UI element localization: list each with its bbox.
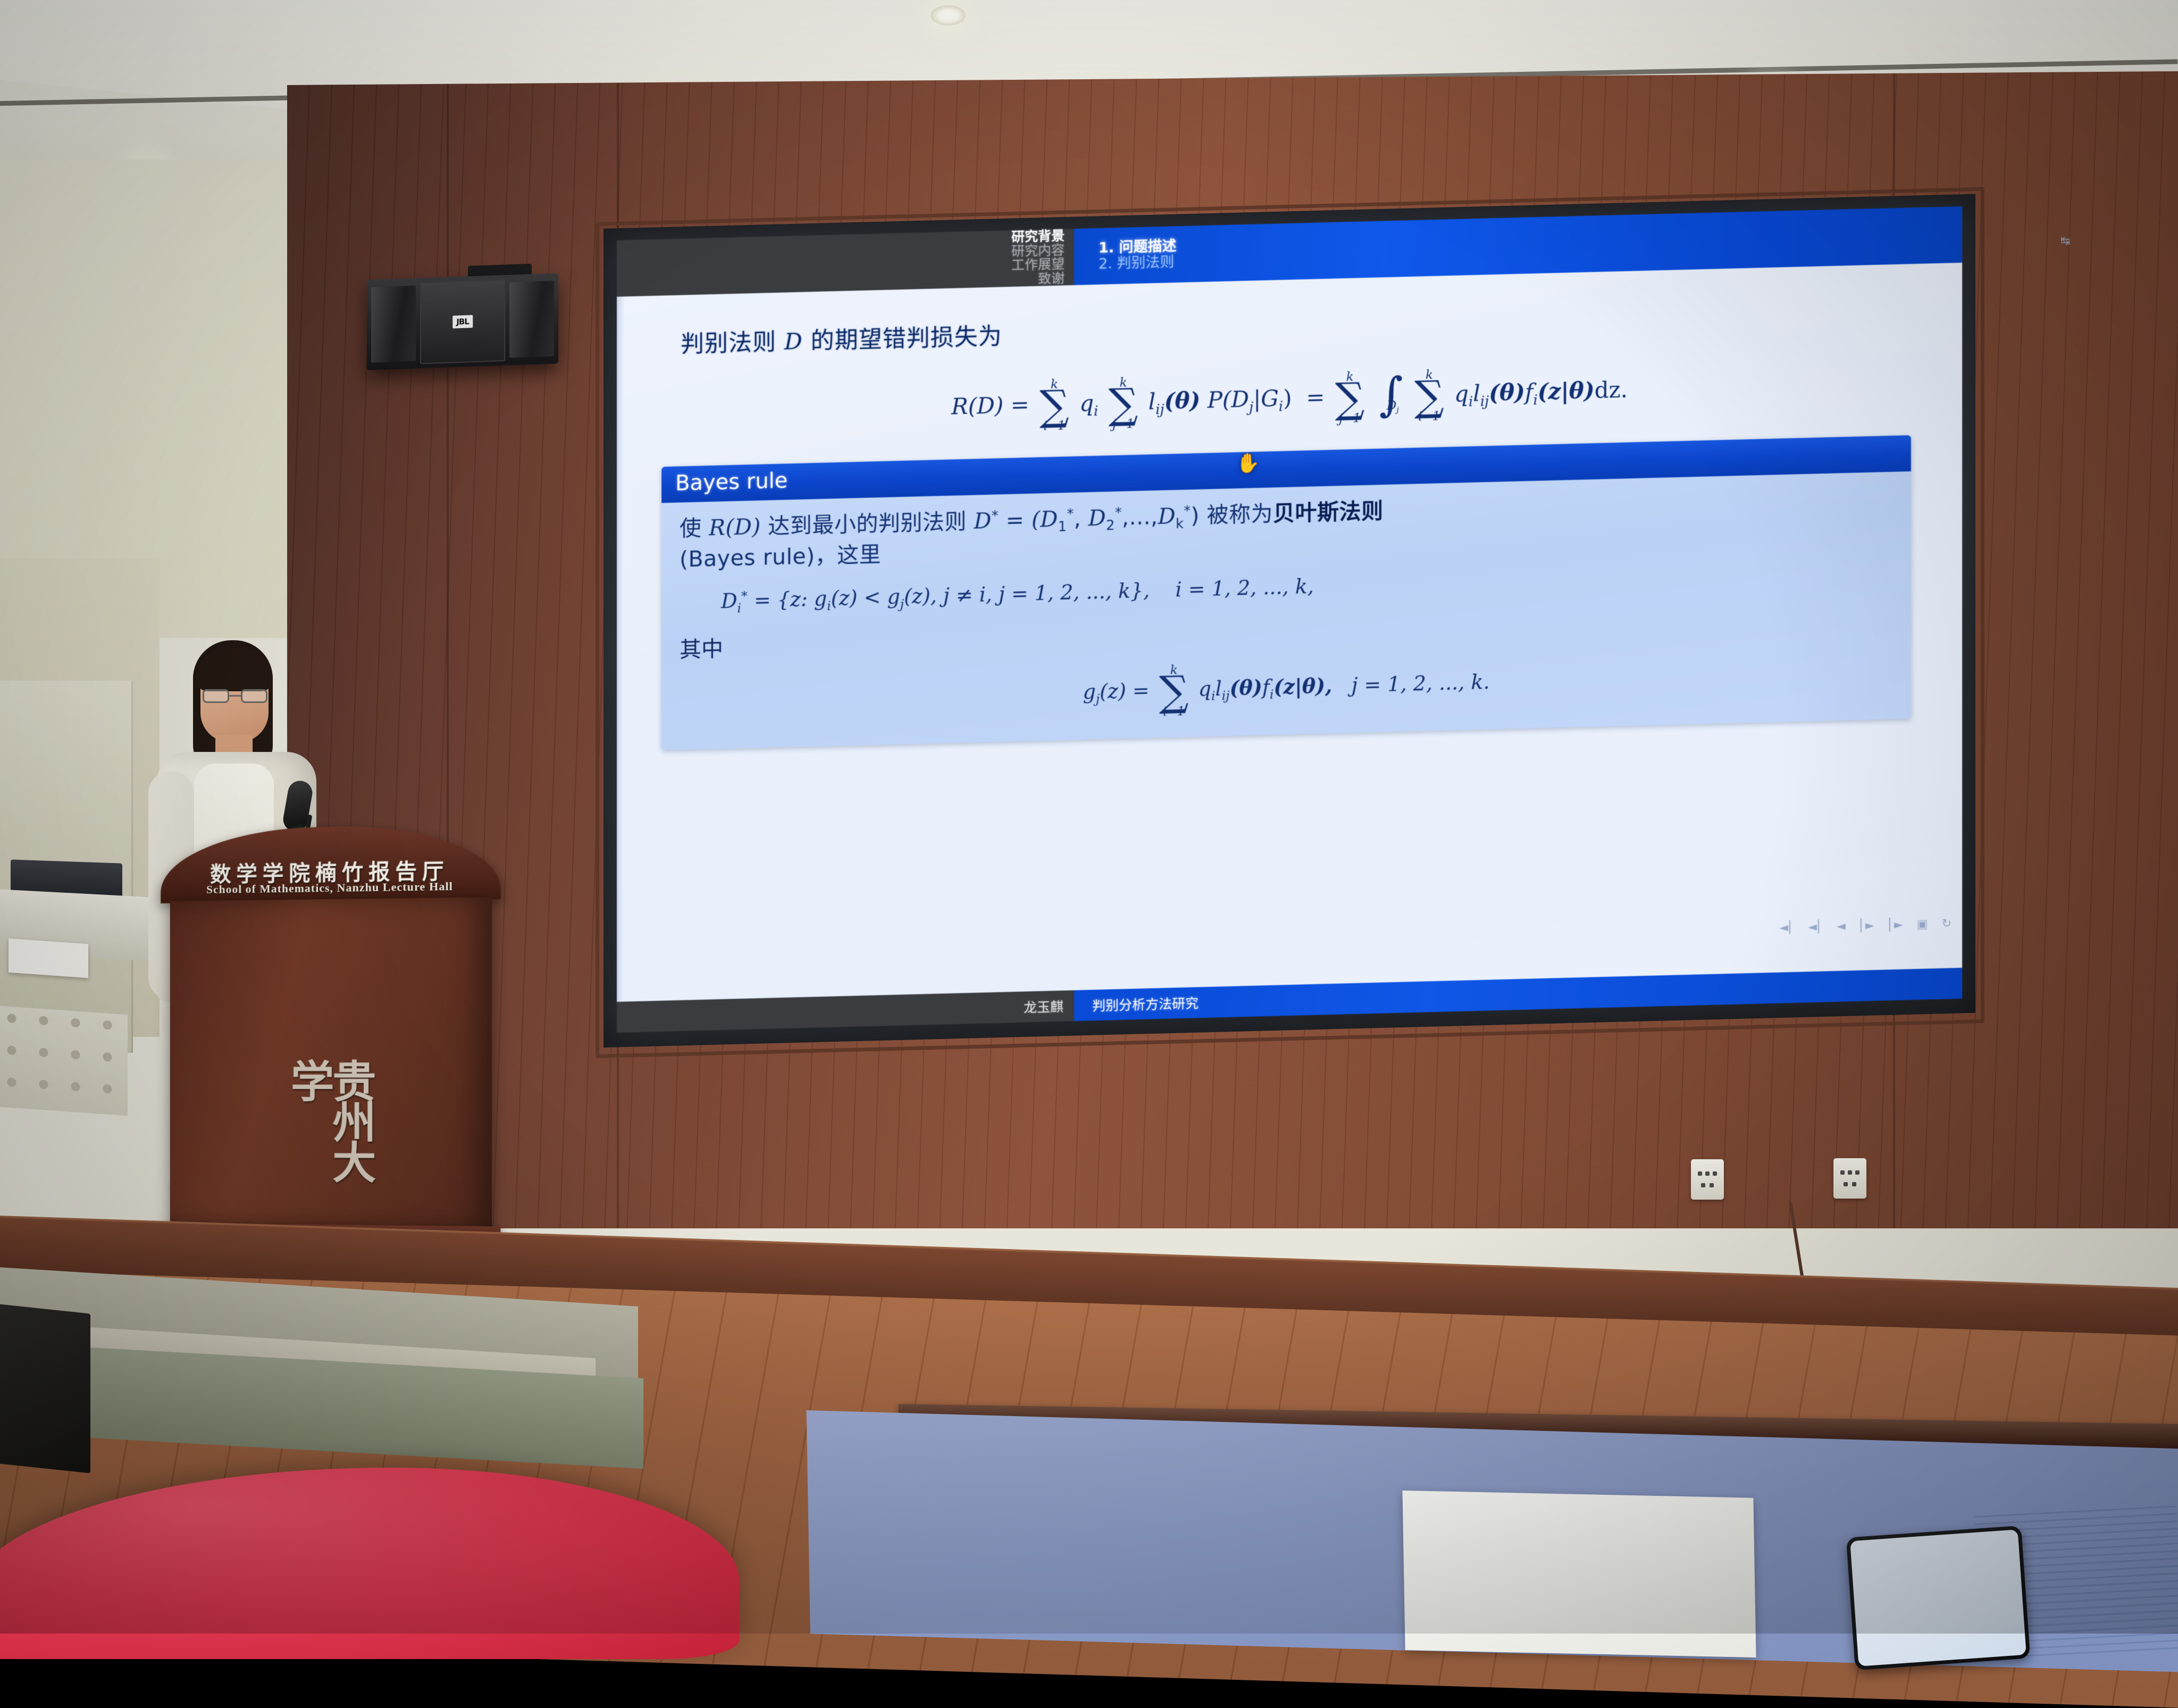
di-tail: (z), j ≠ i, j = 1, 2, ..., k}, [904, 579, 1150, 608]
sum3-lower: j=1 [1339, 413, 1361, 425]
eq-rhs-f: f [1525, 379, 1534, 405]
glasses-lens-left [203, 689, 229, 703]
eq-rhs-theta: (θ) [1489, 379, 1525, 406]
eq-rhs-q: q [1454, 380, 1469, 407]
stmt-bold-term: 贝叶斯法则 [1273, 498, 1384, 526]
summation-1: k ∑ i=1 [1040, 379, 1069, 432]
last-page-icon[interactable]: ⎜► [1888, 918, 1903, 932]
di-sub: i [737, 600, 741, 615]
sigma-icon: ∑ [1109, 389, 1138, 420]
hand-cursor-icon: ✋ [1236, 454, 1260, 473]
wall-perforated-panel [0, 1006, 128, 1116]
pdf-viewer-toolbar[interactable]: ◄⎜ ◄⎜ ◄ ⎜► ⎜► ▣ ↻ [1377, 911, 1951, 949]
eq-prob: P(D [1208, 386, 1249, 413]
gj-definition: gj(z) = k ∑ i=1 qilij(θ)fi(z|θ), j = 1, … [680, 647, 1893, 731]
eq-l: l [1149, 388, 1155, 414]
eq-l-sub: ij [1155, 401, 1164, 417]
slide-left-edge [617, 297, 624, 1002]
di-d: D [721, 589, 737, 613]
jbl-speaker: JBL [367, 273, 558, 371]
integral: ∫ Dj [1379, 380, 1403, 414]
eq-lhs: R(D) [951, 392, 1003, 420]
integral-domain: Dj [1387, 400, 1399, 414]
gj-jrange: j = 1, 2, ..., k. [1352, 670, 1490, 697]
stmt-tk-star: * [1184, 503, 1191, 518]
floor-equipment-box [0, 1302, 90, 1473]
di-irange: i = 1, 2, ..., k, [1175, 575, 1313, 602]
slide-canvas: 研究背景 研究内容 工作展望 致谢 1. 问题描述 2. 判别法则 判别法则 D… [617, 206, 1962, 1033]
stmt-b: 达到最小的判别法则 [768, 508, 967, 539]
podium-top-panel: 数学学院楠竹报告厅 School of Mathematics, Nanzhu … [161, 824, 500, 903]
lecture-hall-scene: JBL 研究背景 研究内容 工作展望 致谢 1. 问题描述 2. 判别法则 [0, 0, 2178, 1634]
glasses-icon [203, 689, 267, 703]
di-star: * [741, 589, 748, 604]
glasses-lens-right [241, 689, 267, 703]
foreground-phone [1846, 1526, 2031, 1670]
stmt-close: ) [1191, 503, 1200, 528]
slide-content-area: 判别法则 D 的期望错判损失为 R(D) = k ∑ i=1 qi k [617, 263, 1962, 1002]
eq-prob-sub1: j [1249, 399, 1253, 415]
podium-emblem: 贵州大学 [284, 1059, 374, 1182]
next-page-icon[interactable]: ⎜► [1859, 919, 1874, 933]
stmt-t1-star: * [1067, 505, 1074, 521]
eq-prob-end: ) [1283, 385, 1292, 411]
gj-theta: (θ) [1229, 675, 1262, 700]
bayes-rule-body: 使 R(D) 达到最小的判别法则 D* = (D1*, D2*,...,Dk*)… [661, 471, 1911, 750]
bayes-rule-block: Bayes rule ✋ 使 R(D) 达到最小的判别法则 D* = (D1*,… [661, 435, 1911, 750]
eq-rhs-fargs: (z|θ) [1538, 377, 1595, 405]
sigma-icon: ∑ [1159, 676, 1189, 707]
eq-rhs-l: l [1473, 380, 1480, 406]
gj-sub: j [1096, 691, 1100, 706]
sigma-icon: ∑ [1335, 383, 1365, 414]
back-icon[interactable]: ◄ [1837, 919, 1846, 933]
stmt-dstar: D [974, 508, 991, 534]
bayes-rule-title: Bayes rule [675, 468, 788, 496]
speaker-brand-badge: JBL [453, 315, 473, 328]
eq-rhs-dz: dz. [1595, 376, 1628, 404]
eq-rhs-q-sub: i [1469, 394, 1473, 410]
eq-q: q [1079, 390, 1094, 416]
eq-equals-1: = [1010, 391, 1029, 418]
power-outlet-icon [1691, 1159, 1724, 1200]
di-rest: = {z: g [754, 587, 827, 612]
stmt-t2: 2 [1106, 517, 1115, 533]
first-page-icon[interactable]: ◄⎜ [1779, 920, 1794, 934]
eq-rhs-f-sub: i [1533, 392, 1537, 408]
gj-g: g [1083, 680, 1095, 704]
gj-eq: = [1133, 679, 1150, 702]
slide-section-item-3[interactable]: 致谢 [1038, 271, 1065, 286]
stmt-star: * [992, 507, 999, 523]
eq-q-sub: i [1094, 403, 1098, 419]
gj-f: f [1262, 676, 1270, 699]
sigma-icon: ∑ [1040, 390, 1069, 421]
podium-front-panel: 贵州大学 [170, 897, 492, 1230]
projector-corner-mark-icon: ↹ [2060, 234, 2074, 248]
sum2-lower: j=1 [1112, 418, 1134, 431]
projected-slide[interactable]: 研究背景 研究内容 工作展望 致谢 1. 问题描述 2. 判别法则 判别法则 D… [617, 206, 1962, 1033]
stmt-t1: 1 [1058, 518, 1067, 534]
eq-prob-mid: |G [1253, 385, 1279, 412]
gj-fargs: (z|θ), [1274, 674, 1332, 699]
fit-page-icon[interactable]: ▣ [1917, 917, 1928, 931]
gj-arg: (z) [1100, 679, 1126, 703]
stmt-dk: D [1158, 503, 1176, 529]
intro-prefix: 判别法则 [681, 328, 776, 358]
eq-prob-sub2: i [1279, 399, 1283, 415]
stmt-t2-star: * [1115, 504, 1122, 520]
eq-theta: (θ) [1165, 387, 1201, 414]
di-mid: (z) < g [831, 585, 900, 610]
intro-variable: D [784, 328, 803, 355]
stmt-a: 使 [680, 515, 702, 541]
gj-l-sub: ij [1222, 688, 1230, 703]
speaker-horn-right [509, 281, 554, 358]
intro-suffix: 的期望错判损失为 [811, 323, 1002, 355]
stmt-tk: k [1176, 515, 1184, 531]
summation-3: k ∑ j=1 [1335, 371, 1365, 425]
prev-page-icon[interactable]: ◄⎜ [1808, 920, 1823, 934]
glasses-bridge [229, 695, 241, 697]
speaker-cabinet: JBL [420, 279, 505, 364]
rotate-icon[interactable]: ↻ [1942, 917, 1951, 930]
eq-rhs-l-sub: ij [1480, 393, 1489, 409]
di-gi-sub: i [827, 598, 831, 613]
sumgj-lower: i=1 [1163, 706, 1185, 718]
summation-4: k ∑ i=1 [1414, 370, 1444, 423]
stmt-c: 被称为 [1207, 501, 1274, 528]
gj-q: q [1199, 677, 1211, 701]
sigma-icon: ∑ [1414, 381, 1444, 412]
stmt-d2: D [1088, 505, 1106, 531]
intro-sentence: 判别法则 D 的期望错判损失为 [681, 293, 1930, 358]
di-gj-sub: j [900, 597, 904, 612]
phone-screen[interactable] [1850, 1529, 2026, 1666]
foreground-paper-sheet [1402, 1491, 1756, 1657]
stmt-rd: R(D) [709, 514, 761, 540]
eq-equals-2: = [1306, 384, 1325, 411]
sum1-lower: i=1 [1043, 421, 1065, 433]
speaker-horn-left [371, 286, 416, 363]
downlight-icon [931, 5, 966, 26]
main-equation: R(D) = k ∑ i=1 qi k ∑ j=1 lij(θ) P(Dj|Gi… [649, 357, 1930, 442]
sum4-lower: i=1 [1418, 411, 1440, 423]
summation-gj: k ∑ i=1 [1159, 665, 1189, 718]
stmt-dots: ,..., [1122, 504, 1158, 530]
side-paper [9, 939, 88, 978]
stmt-eq: = [1006, 507, 1025, 533]
network-outlet-icon [1833, 1158, 1866, 1199]
gj-l: l [1215, 677, 1221, 700]
summation-2: k ∑ j=1 [1109, 377, 1138, 431]
stmt-tuple-open: (D [1032, 506, 1058, 532]
